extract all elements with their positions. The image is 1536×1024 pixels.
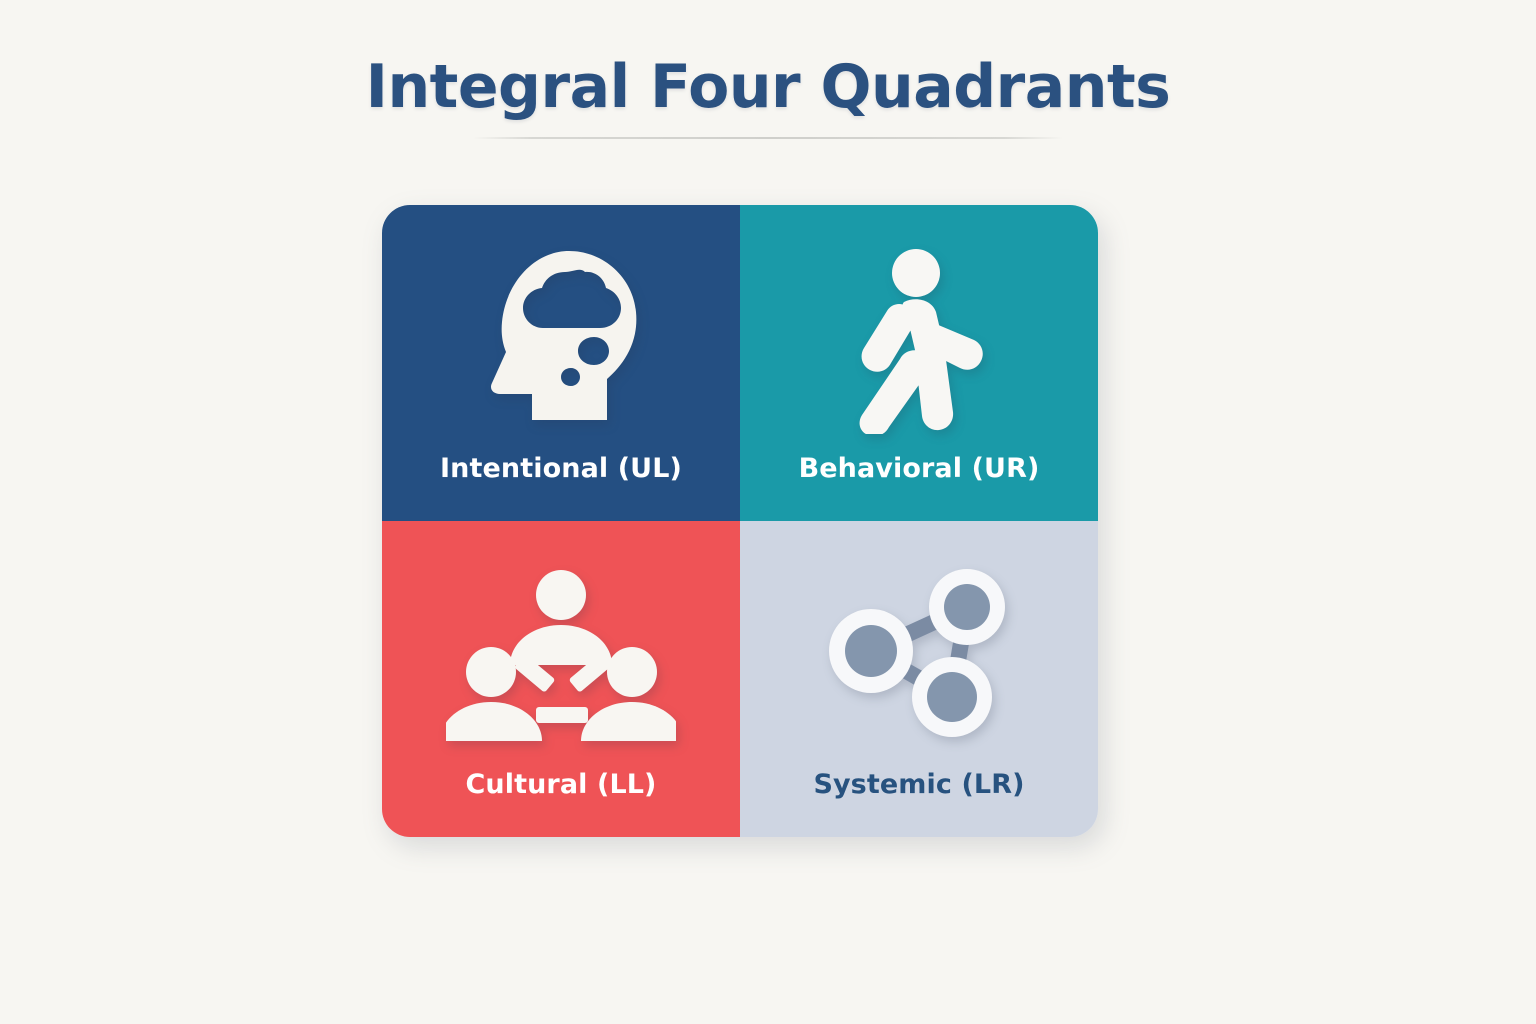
quadrant-label-systemic: Systemic (LR): [813, 769, 1024, 800]
quadrant-intentional-ul[interactable]: Intentional (UL): [382, 205, 740, 521]
four-quadrant-diagram: Intentional (UL) Behavioral (UR): [382, 205, 1098, 837]
quadrant-label-cultural: Cultural (LL): [466, 769, 657, 800]
walking-person-icon: [844, 251, 994, 431]
quadrant-label-intentional: Intentional (UL): [440, 453, 682, 484]
header: Integral Four Quadrants: [0, 56, 1536, 139]
quadrant-label-behavioral: Behavioral (UR): [799, 453, 1040, 484]
quadrant-behavioral-ur[interactable]: Behavioral (UR): [740, 205, 1098, 521]
page-title: Integral Four Quadrants: [0, 56, 1536, 119]
people-group-icon-svg: [446, 569, 676, 745]
head-thought-icon: [473, 251, 649, 431]
quadrant-systemic-lr[interactable]: Systemic (LR): [740, 521, 1098, 837]
people-group-icon: [446, 567, 676, 747]
walking-person-icon-svg: [844, 248, 994, 434]
title-divider: [473, 137, 1063, 139]
network-nodes-icon-svg: [819, 569, 1019, 745]
head-thought-icon-svg: [473, 248, 649, 434]
quadrant-cultural-ll[interactable]: Cultural (LL): [382, 521, 740, 837]
network-nodes-icon: [819, 567, 1019, 747]
